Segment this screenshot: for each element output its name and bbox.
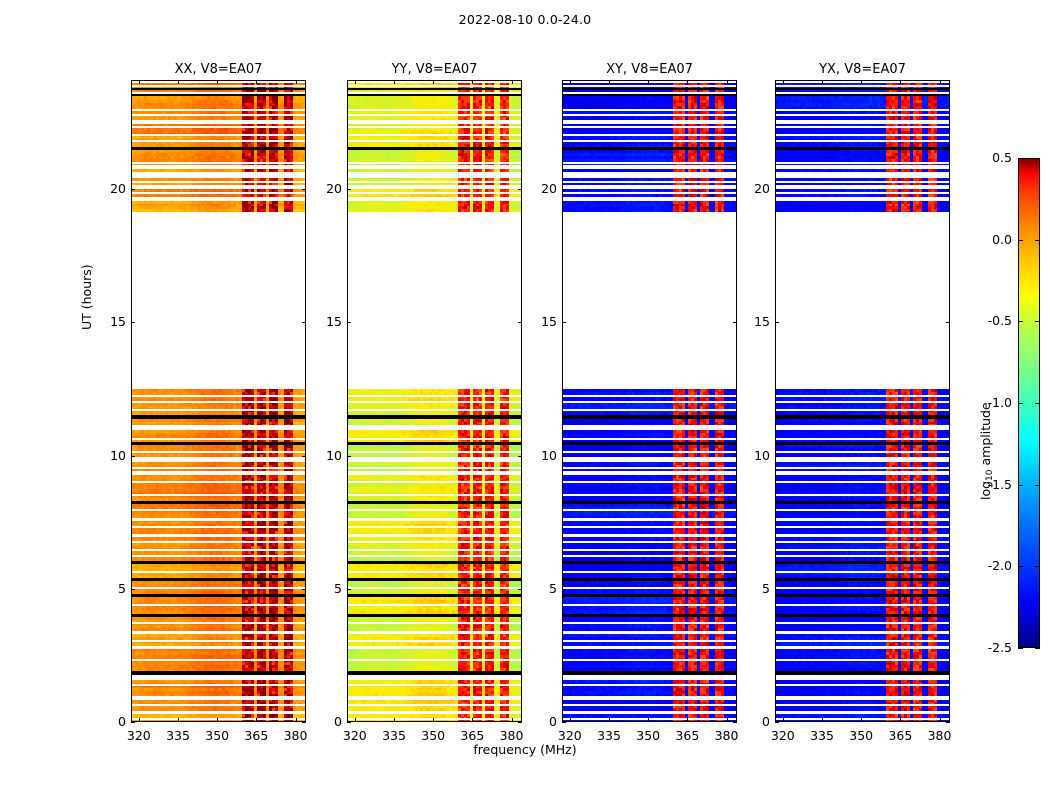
y-tick — [946, 189, 950, 190]
flagged-row — [132, 509, 305, 511]
y-tick-label: 15 — [517, 314, 557, 329]
x-tick — [609, 80, 610, 84]
panel-xy-axes[interactable] — [562, 80, 737, 722]
panel-yy-image — [348, 81, 521, 721]
flagged-row — [348, 604, 521, 606]
panel-title-xx: XX, V8=EA07 — [131, 62, 306, 77]
y-tick — [946, 589, 950, 590]
colorbar-tick — [1035, 158, 1040, 159]
y-tick-label: 0 — [302, 714, 342, 729]
flagged-row — [132, 126, 305, 128]
x-tick — [900, 718, 901, 722]
x-tick — [609, 718, 610, 722]
colorbar-tick — [1018, 403, 1023, 404]
x-tick-label: 380 — [704, 728, 750, 743]
flagged-row — [348, 395, 521, 397]
y-tick — [775, 722, 779, 723]
flagged-row — [348, 622, 521, 624]
spectrum-row-block — [776, 475, 949, 501]
y-tick — [946, 722, 950, 723]
panel-xx-image — [132, 81, 305, 721]
flagged-row — [348, 85, 521, 87]
x-tick — [940, 80, 941, 84]
x-tick-label: 380 — [273, 728, 319, 743]
flagged-row — [563, 684, 736, 686]
flagged-row — [776, 140, 949, 142]
spectrum-row-block — [776, 96, 949, 109]
flagged-row — [776, 126, 949, 128]
flagged-row — [348, 181, 521, 183]
flagged-row — [563, 659, 736, 661]
colorbar-tick — [1018, 648, 1023, 649]
flagged-row — [563, 704, 736, 706]
flagged-row — [348, 172, 521, 174]
flagged-row — [132, 162, 305, 164]
flagged-row — [563, 451, 736, 453]
y-tick — [131, 722, 135, 723]
x-tick — [570, 718, 571, 722]
y-axis-label: UT (hours) — [79, 264, 94, 330]
x-tick — [570, 80, 571, 84]
flagged-row — [563, 571, 736, 573]
flagged-row — [563, 140, 736, 142]
flagged-row — [776, 467, 949, 469]
flagged-row — [776, 451, 949, 453]
flagged-row — [132, 622, 305, 624]
no-data-gap — [348, 212, 521, 389]
flagged-row — [132, 640, 305, 642]
y-tick-label: 20 — [86, 181, 126, 196]
no-data-gap — [132, 212, 305, 389]
colorbar-label: log10 amplitude — [978, 402, 995, 500]
y-tick — [946, 322, 950, 323]
spectrum-row-block — [776, 504, 949, 518]
flagged-row — [776, 541, 949, 543]
flagged-row — [776, 684, 949, 686]
flagged-row — [776, 622, 949, 624]
colorbar-tick — [1035, 648, 1040, 649]
flagged-row — [348, 92, 521, 94]
flagged-row — [776, 704, 949, 706]
spectrum-row-block — [348, 504, 521, 518]
flagged-row — [132, 571, 305, 573]
flagged-row — [563, 467, 736, 469]
flagged-row — [563, 640, 736, 642]
colorbar-tick — [1035, 485, 1040, 486]
flagged-row — [132, 438, 305, 440]
y-tick-label: 10 — [302, 448, 342, 463]
flagged-row — [132, 481, 305, 483]
flagged-row — [132, 587, 305, 589]
x-tick — [648, 718, 649, 722]
flagged-row — [563, 587, 736, 589]
y-tick — [775, 589, 779, 590]
flagged-row — [563, 438, 736, 440]
no-data-gap — [776, 212, 949, 389]
flagged-row — [132, 555, 305, 557]
flagged-row — [132, 92, 305, 94]
flagged-row — [348, 659, 521, 661]
flagged-row — [348, 555, 521, 557]
y-tick-label: 5 — [730, 581, 770, 596]
panel-xy-image — [563, 81, 736, 721]
colorbar-tick-label: -2.5 — [972, 640, 1012, 655]
y-tick — [131, 189, 135, 190]
flagged-row — [563, 622, 736, 624]
panel-yx-image — [776, 81, 949, 721]
flagged-row — [776, 181, 949, 183]
spectrum-row-block — [563, 475, 736, 501]
spectrum-row-block — [348, 136, 521, 147]
flagged-row — [348, 526, 521, 528]
spectrum-row-block — [132, 430, 305, 442]
flagged-row — [776, 395, 949, 397]
flagged-row — [776, 718, 949, 720]
flagged-row — [348, 409, 521, 411]
flagged-row — [132, 85, 305, 87]
x-tick — [687, 80, 688, 84]
y-tick-label: 5 — [86, 581, 126, 596]
figure-suptitle: 2022-08-10 0.0-24.0 — [0, 12, 1050, 27]
flagged-row — [563, 162, 736, 164]
colorbar-tick — [1018, 321, 1023, 322]
flagged-row — [776, 587, 949, 589]
flagged-row — [348, 192, 521, 194]
panel-yx-axes[interactable] — [775, 80, 950, 722]
panel-title-yx: YX, V8=EA07 — [775, 62, 950, 77]
no-data-gap — [563, 212, 736, 389]
colorbar-label-sub: 10 — [985, 469, 995, 480]
x-tick — [512, 718, 513, 722]
x-tick — [433, 718, 434, 722]
spectrum-row-block — [776, 201, 949, 212]
flagged-row — [776, 172, 949, 174]
spectrum-row-block — [563, 96, 736, 109]
y-tick — [775, 322, 779, 323]
spectrum-row-block — [776, 430, 949, 442]
panel-title-yy: YY, V8=EA07 — [347, 62, 522, 77]
x-tick — [512, 80, 513, 84]
spectrum-row-block — [348, 617, 521, 631]
flagged-row — [776, 526, 949, 528]
flagged-row — [563, 409, 736, 411]
spectrum-row-block — [348, 430, 521, 442]
y-tick — [131, 456, 135, 457]
x-tick — [178, 718, 179, 722]
flagged-row — [563, 718, 736, 720]
flagged-row — [348, 114, 521, 116]
flagged-row — [348, 126, 521, 128]
spectrum-row-block — [348, 96, 521, 109]
flagged-row — [132, 604, 305, 606]
flagged-row — [348, 451, 521, 453]
flagged-row — [563, 192, 736, 194]
y-tick-label: 10 — [517, 448, 557, 463]
x-tick — [687, 718, 688, 722]
spectrum-row-block — [776, 136, 949, 147]
spectrum-row-block — [776, 617, 949, 631]
x-tick — [861, 718, 862, 722]
flagged-row — [776, 555, 949, 557]
y-tick-label: 0 — [730, 714, 770, 729]
spectrum-row-block — [776, 680, 949, 697]
flagged-row — [348, 162, 521, 164]
x-tick — [139, 718, 140, 722]
flagged-row — [776, 481, 949, 483]
flagged-row — [563, 555, 736, 557]
flagged-row — [563, 494, 736, 496]
colorbar-tick — [1018, 566, 1023, 567]
x-tick — [783, 80, 784, 84]
flagged-row — [348, 467, 521, 469]
spectrum-row-block — [563, 201, 736, 212]
colorbar-tick — [1018, 158, 1023, 159]
spectrum-row-block — [563, 430, 736, 442]
y-tick — [347, 189, 351, 190]
flagged-row — [563, 481, 736, 483]
flagged-row — [348, 481, 521, 483]
flagged-row — [132, 425, 305, 427]
spectrum-row-block — [348, 201, 521, 212]
x-tick — [900, 80, 901, 84]
y-tick — [347, 722, 351, 723]
y-tick — [562, 722, 566, 723]
x-tick-label: 380 — [917, 728, 963, 743]
flagged-row — [348, 438, 521, 440]
flagged-row — [132, 114, 305, 116]
y-tick-label: 10 — [730, 448, 770, 463]
x-tick — [296, 718, 297, 722]
colorbar-tick — [1035, 566, 1040, 567]
flagged-row — [776, 409, 949, 411]
flagged-row — [563, 604, 736, 606]
flagged-row — [776, 571, 949, 573]
x-tick — [472, 80, 473, 84]
colorbar-tick — [1018, 240, 1023, 241]
flagged-row — [132, 451, 305, 453]
y-tick-label: 0 — [86, 714, 126, 729]
x-tick — [296, 80, 297, 84]
flagged-row — [348, 684, 521, 686]
spectrum-row-block — [132, 680, 305, 697]
flagged-row — [348, 541, 521, 543]
flagged-row — [132, 467, 305, 469]
y-tick-label: 5 — [302, 581, 342, 596]
spectrum-row-block — [563, 136, 736, 147]
x-tick — [648, 80, 649, 84]
panel-title-xy: XY, V8=EA07 — [562, 62, 737, 77]
flagged-row — [776, 425, 949, 427]
flagged-row — [132, 395, 305, 397]
flagged-row — [348, 425, 521, 427]
y-tick — [562, 189, 566, 190]
flagged-row — [563, 526, 736, 528]
flagged-row — [563, 425, 736, 427]
flagged-row — [563, 85, 736, 87]
spectrum-row-block — [132, 504, 305, 518]
y-tick — [562, 589, 566, 590]
y-tick-label: 15 — [302, 314, 342, 329]
figure-canvas: 2022-08-10 0.0-24.0 XX, V8=EA07 YY, V8=E… — [0, 0, 1050, 800]
flagged-row — [132, 526, 305, 528]
panel-yy-axes[interactable] — [347, 80, 522, 722]
y-tick-label: 20 — [730, 181, 770, 196]
flagged-row — [348, 571, 521, 573]
flagged-row — [563, 181, 736, 183]
y-tick-label: 5 — [517, 581, 557, 596]
flagged-row — [132, 409, 305, 411]
spectrum-row-block — [563, 504, 736, 518]
flagged-row — [132, 659, 305, 661]
colorbar-tick-label: 0.0 — [972, 232, 1012, 247]
spectrum-row-block — [348, 475, 521, 501]
flagged-row — [132, 494, 305, 496]
flagged-row — [776, 162, 949, 164]
flagged-row — [132, 172, 305, 174]
spectrum-row-block — [132, 201, 305, 212]
flagged-row — [563, 92, 736, 94]
colorbar-label-main: log — [978, 481, 993, 500]
colorbar-label-tail: amplitude — [978, 402, 993, 469]
flagged-row — [776, 604, 949, 606]
y-tick — [131, 589, 135, 590]
y-tick — [775, 456, 779, 457]
y-tick — [562, 322, 566, 323]
y-tick-label: 15 — [730, 314, 770, 329]
x-tick — [256, 80, 257, 84]
colorbar-tick — [1035, 321, 1040, 322]
x-tick — [256, 718, 257, 722]
flagged-row — [348, 587, 521, 589]
colorbar-tick-label: 0.5 — [972, 150, 1012, 165]
x-tick — [822, 718, 823, 722]
x-tick — [355, 80, 356, 84]
flagged-row — [563, 541, 736, 543]
y-tick — [562, 456, 566, 457]
flagged-row — [776, 640, 949, 642]
flagged-row — [132, 541, 305, 543]
y-tick — [131, 322, 135, 323]
x-tick — [178, 80, 179, 84]
flagged-row — [348, 640, 521, 642]
flagged-row — [563, 114, 736, 116]
flagged-row — [348, 494, 521, 496]
y-tick — [347, 456, 351, 457]
x-tick-label: 380 — [489, 728, 535, 743]
flagged-row — [776, 438, 949, 440]
flagged-row — [776, 85, 949, 87]
x-tick — [394, 718, 395, 722]
flagged-row — [132, 181, 305, 183]
y-tick-label: 10 — [86, 448, 126, 463]
flagged-row — [348, 704, 521, 706]
flagged-row — [563, 395, 736, 397]
spectrum-row-block — [132, 475, 305, 501]
spectrum-row-block — [563, 617, 736, 631]
flagged-row — [776, 659, 949, 661]
x-tick — [727, 718, 728, 722]
flagged-row — [348, 140, 521, 142]
flagged-row — [132, 192, 305, 194]
x-tick — [727, 80, 728, 84]
flagged-row — [132, 718, 305, 720]
colorbar-tick — [1018, 485, 1023, 486]
y-tick-label: 20 — [517, 181, 557, 196]
flagged-row — [563, 172, 736, 174]
flagged-row — [132, 140, 305, 142]
x-tick — [783, 718, 784, 722]
spectrum-row-block — [132, 136, 305, 147]
y-tick — [347, 589, 351, 590]
y-tick-label: 0 — [517, 714, 557, 729]
x-tick — [861, 80, 862, 84]
flagged-row — [776, 509, 949, 511]
spectrum-row-block — [132, 617, 305, 631]
y-tick — [347, 322, 351, 323]
x-tick — [472, 718, 473, 722]
spectrum-row-block — [348, 680, 521, 697]
y-tick — [946, 456, 950, 457]
flagged-row — [563, 509, 736, 511]
flagged-row — [132, 704, 305, 706]
x-tick — [433, 80, 434, 84]
spectrum-row-block — [563, 680, 736, 697]
x-tick — [394, 80, 395, 84]
x-tick — [940, 718, 941, 722]
panel-xx-axes[interactable] — [131, 80, 306, 722]
flagged-row — [132, 684, 305, 686]
colorbar-tick — [1035, 403, 1040, 404]
colorbar-tick-label: -0.5 — [972, 313, 1012, 328]
flagged-row — [563, 126, 736, 128]
flagged-row — [776, 114, 949, 116]
y-tick-label: 20 — [302, 181, 342, 196]
colorbar-tick — [1035, 240, 1040, 241]
x-tick — [217, 718, 218, 722]
flagged-row — [776, 494, 949, 496]
flagged-row — [776, 192, 949, 194]
flagged-row — [348, 718, 521, 720]
x-tick — [217, 80, 218, 84]
x-tick — [355, 718, 356, 722]
flagged-row — [348, 509, 521, 511]
colorbar-tick-label: -2.0 — [972, 558, 1012, 573]
y-tick — [775, 189, 779, 190]
flagged-row — [776, 92, 949, 94]
spectrum-row-block — [132, 96, 305, 109]
x-tick — [139, 80, 140, 84]
x-axis-label: frequency (MHz) — [0, 742, 1050, 757]
x-tick — [822, 80, 823, 84]
